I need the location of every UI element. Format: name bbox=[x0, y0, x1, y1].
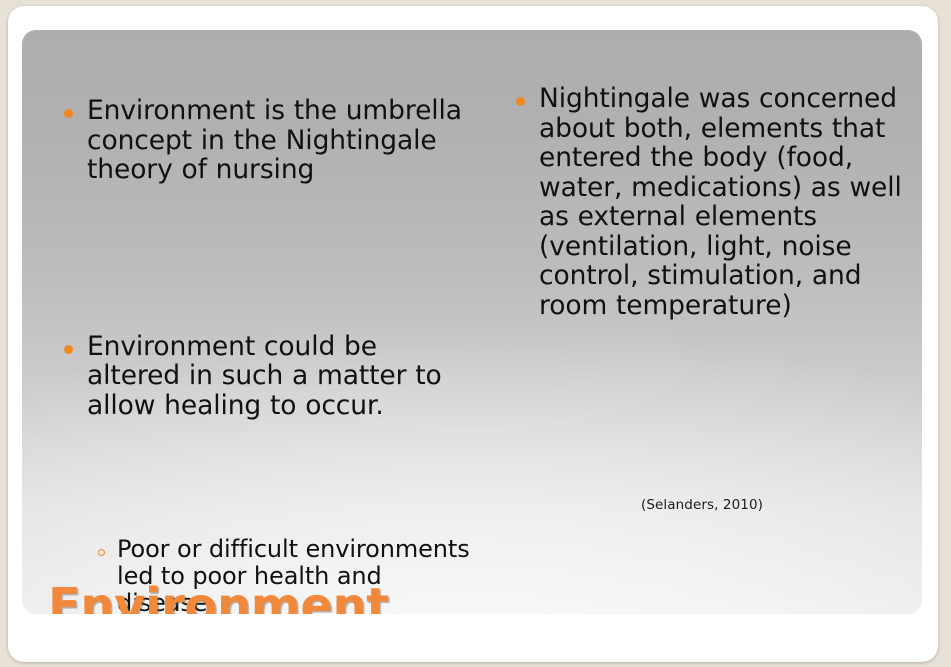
slide-content-panel: Environment is the umbrella concept in t… bbox=[22, 30, 922, 614]
bullet-item: Nightingale was concerned about both, el… bbox=[502, 84, 902, 320]
bullet-dot-icon bbox=[64, 109, 73, 118]
bullet-dot-icon bbox=[516, 97, 525, 106]
slide-card: Environment is the umbrella concept in t… bbox=[8, 6, 938, 662]
slide-title: Environment bbox=[48, 582, 389, 614]
bullet-text: Environment is the umbrella concept in t… bbox=[87, 95, 462, 185]
bullet-item: Environment is the umbrella concept in t… bbox=[50, 96, 470, 185]
content-column-left: Environment is the umbrella concept in t… bbox=[50, 30, 470, 288]
citation-text: (Selanders, 2010) bbox=[502, 497, 902, 513]
bullet-text: Nightingale saw ventilation as the most … bbox=[539, 612, 899, 614]
bullet-item: Nightingale saw ventilation as the most … bbox=[502, 613, 902, 614]
presentation-slide: Environment is the umbrella concept in t… bbox=[0, 0, 951, 667]
bullet-hollow-circle-icon bbox=[98, 549, 105, 556]
slide-body-text: Environment is the umbrella concept in t… bbox=[22, 30, 922, 550]
bullet-dot-icon bbox=[64, 345, 73, 354]
bullet-text: Nightingale was concerned about both, el… bbox=[539, 83, 902, 321]
bullet-item: Environment could be altered in such a m… bbox=[50, 332, 470, 421]
content-column-right: Nightingale was concerned about both, el… bbox=[502, 30, 902, 355]
bullet-text: Environment could be altered in such a m… bbox=[87, 331, 442, 421]
